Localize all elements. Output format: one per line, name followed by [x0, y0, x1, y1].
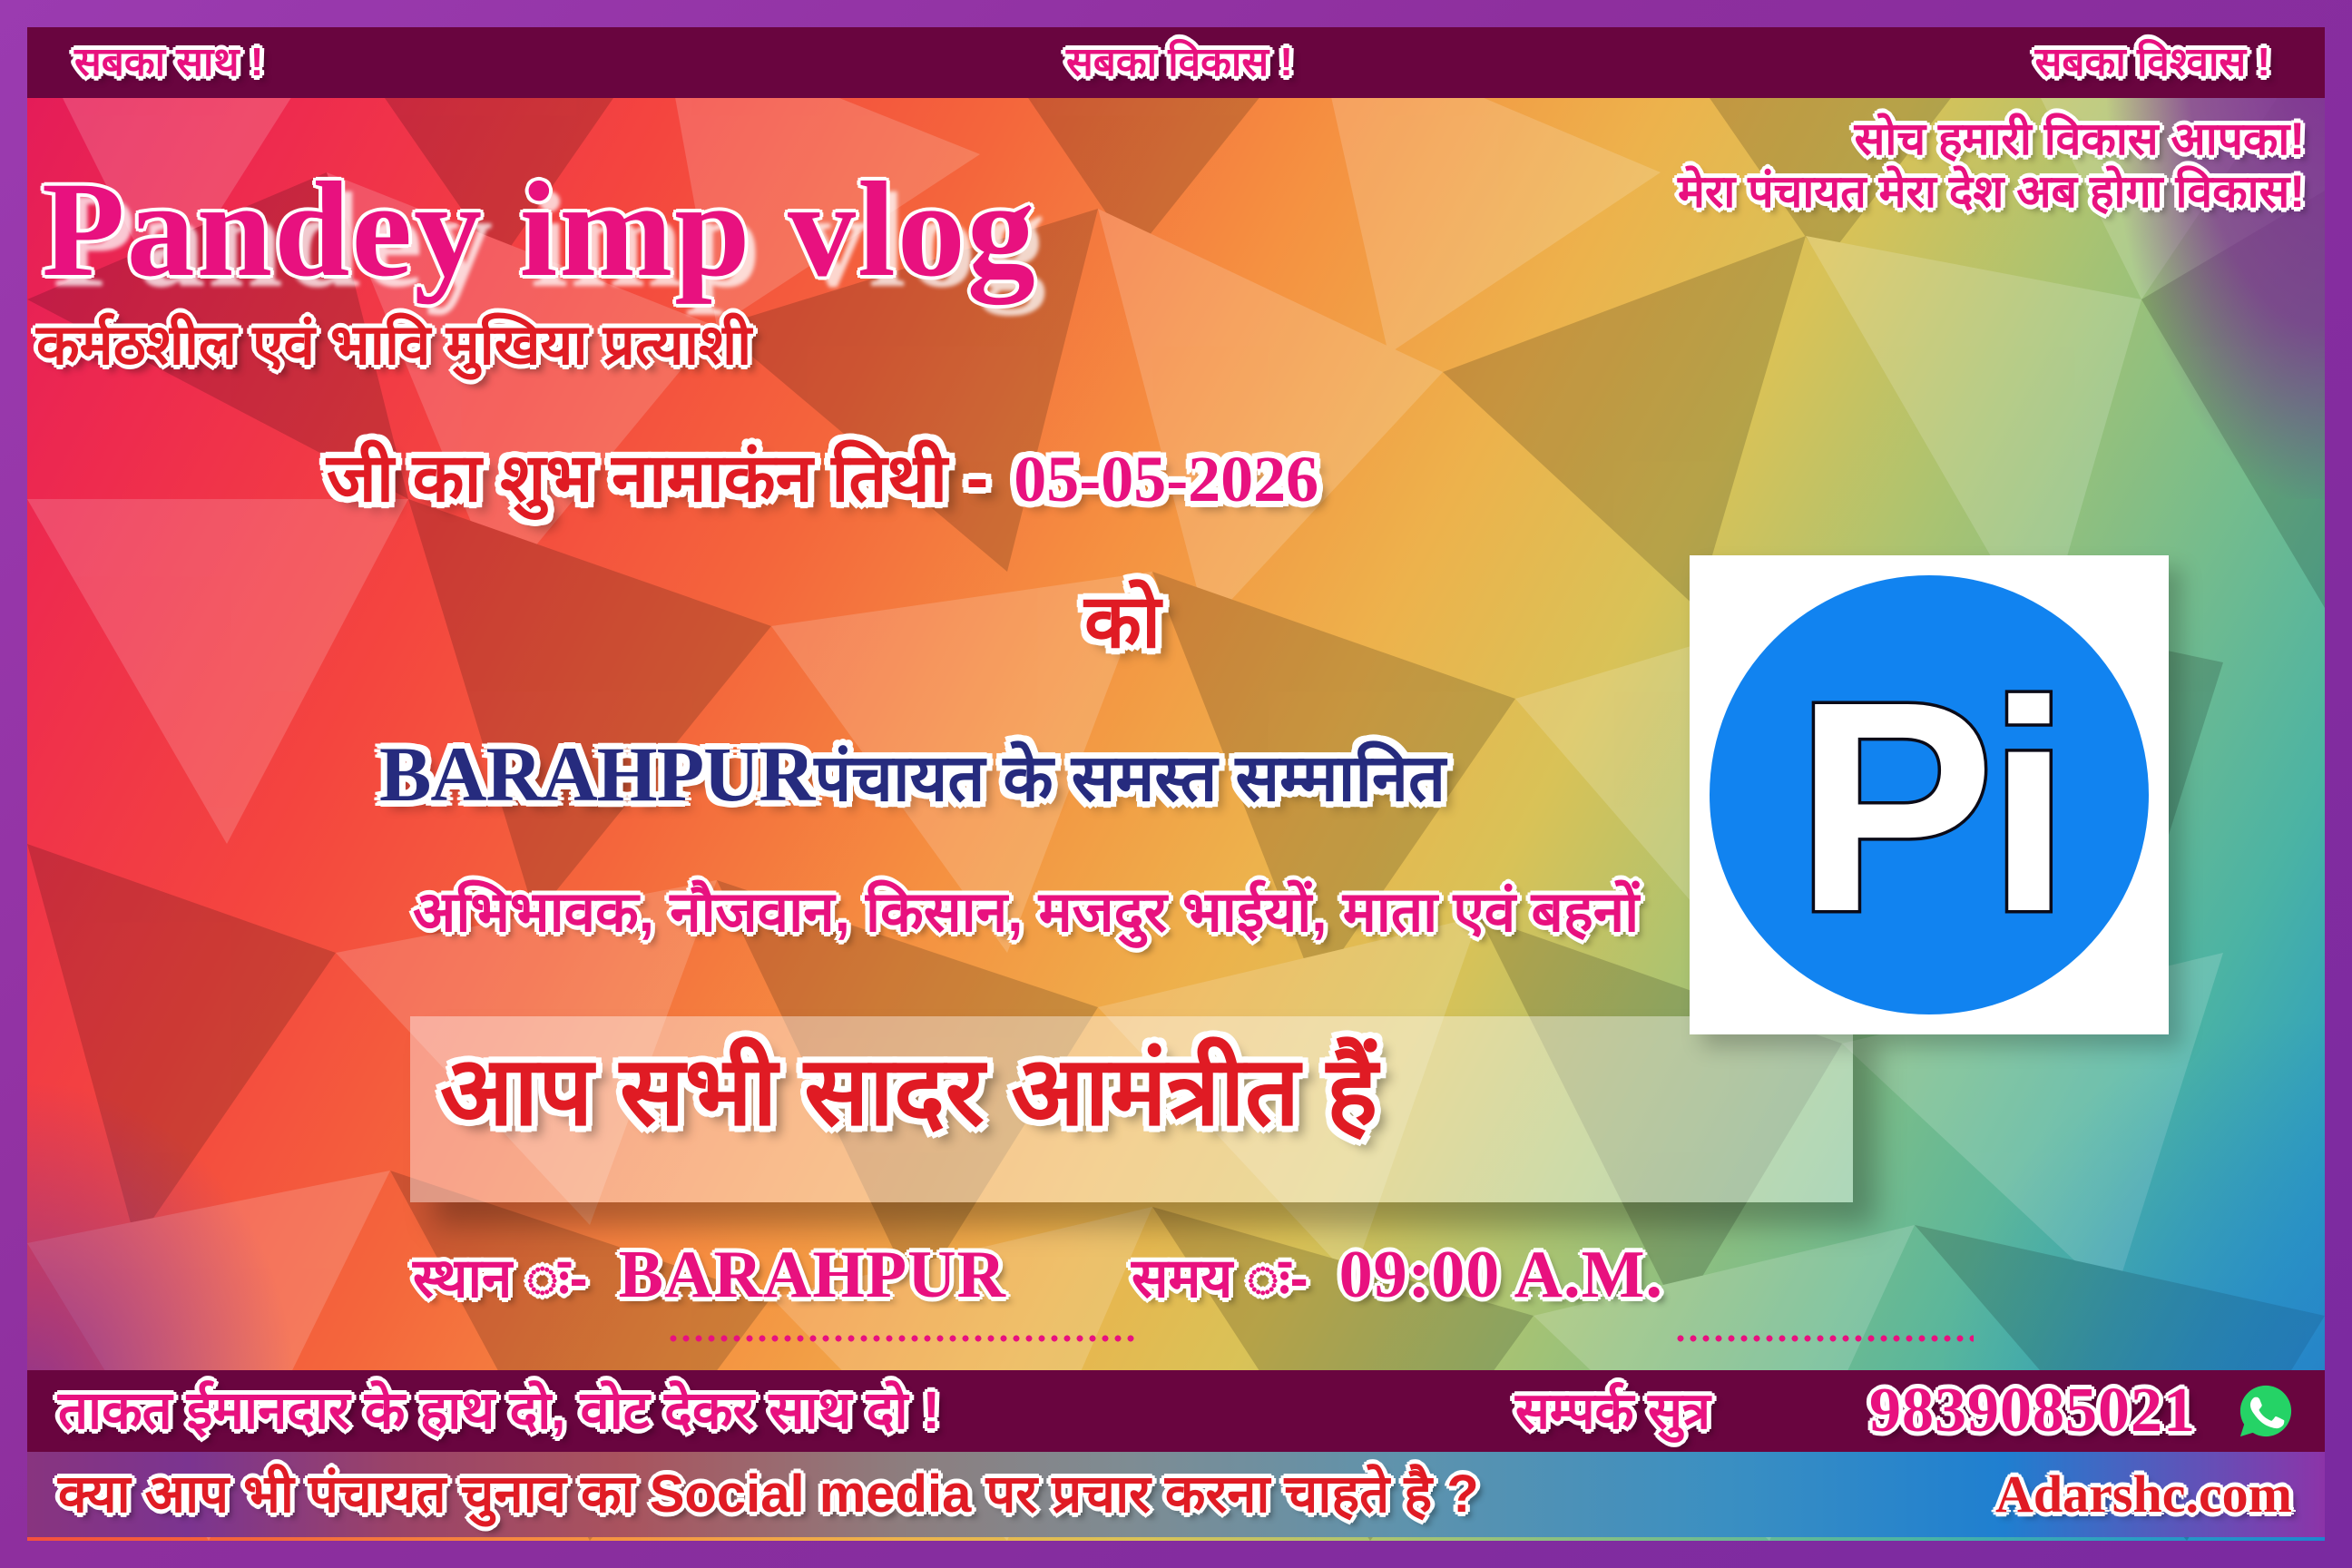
- audience-line: अभिभावक, नौजवान, किसान, मजदुर भाईयों, मा…: [413, 885, 1639, 941]
- contact-label: सम्पर्क सुत्र: [1515, 1386, 1710, 1436]
- slogan-sabka-vishwas: सबका विश्वास !: [2035, 43, 2270, 83]
- nomination-date-row: जी का शुभ नामाकंन तिथी - 05-05-2026: [327, 445, 1318, 512]
- nomination-date-label: जी का शुभ नामाकंन तिथी -: [327, 445, 988, 512]
- tagline-line-2: मेरा पंचायत मेरा देश अब होगा विकास!: [1678, 169, 2305, 214]
- contact-phone-number[interactable]: 9839085021: [1869, 1379, 2196, 1443]
- panchayat-suffix: पंचायत के समस्त सम्मानित: [814, 746, 1445, 811]
- panchayat-line: BARAHPUR पंचायत के समस्त सम्मानित: [379, 735, 1445, 813]
- time-dotted-rule: [1674, 1334, 1974, 1343]
- slogan-sabka-saath: सबका साथ !: [74, 43, 263, 83]
- venue-dotted-rule: [667, 1334, 1139, 1343]
- venue-label: स्थान ः-: [413, 1251, 588, 1306]
- promo-question-text: क्या आप भी पंचायत चुनाव का Social media …: [58, 1468, 1479, 1521]
- venue-time-row: स्थान ः- BARAHPUR समय ः- 09:00 A.M.: [413, 1241, 1663, 1308]
- candidate-role-line: कर्मठशील एवं भावि मुखिया प्रत्याशी: [36, 318, 751, 374]
- corner-tint-top-right: [2107, 27, 2325, 499]
- poster-canvas: सबका साथ ! सबका विकास ! सबका विश्वास ! स…: [0, 0, 2352, 1568]
- panchayat-name: BARAHPUR: [379, 735, 814, 813]
- slogan-sabka-vikas: सबका विकास !: [1066, 43, 1293, 83]
- time-label: समय ः-: [1132, 1251, 1308, 1306]
- footer-promo-bar: क्या आप भी पंचायत चुनाव का Social media …: [27, 1452, 2325, 1537]
- connector-word-ko: को: [1084, 585, 1161, 660]
- tagline-block: सोच हमारी विकास आपका! मेरा पंचायत मेरा द…: [1678, 116, 2305, 214]
- tagline-line-1: सोच हमारी विकास आपका!: [1678, 116, 2305, 162]
- time-value: 09:00 A.M.: [1339, 1241, 1663, 1308]
- whatsapp-icon[interactable]: [2238, 1383, 2294, 1444]
- nomination-date-value: 05-05-2026: [1014, 446, 1318, 512]
- page-title-brand: Pandey imp vlog: [42, 162, 1037, 298]
- corner-tint-bottom-right: [1944, 1024, 2325, 1405]
- footer-vote-slogan: ताकत ईमानदार के हाथ दो, वोट देकर साथ दो …: [58, 1385, 940, 1437]
- corner-tint-bottom-left: [27, 1078, 299, 1405]
- venue-value: BARAHPUR: [619, 1241, 1006, 1308]
- invitation-line: आप सभी सादर आमंत्रीत हैं: [440, 1044, 1377, 1140]
- promo-website-link[interactable]: Adarshc.com: [1995, 1468, 2292, 1521]
- footer-contact-bar: ताकत ईमानदार के हाथ दो, वोट देकर साथ दो …: [27, 1370, 2325, 1452]
- logo-monogram: Pi: [1690, 579, 2169, 1034]
- top-slogan-bar: सबका साथ ! सबका विकास ! सबका विश्वास !: [27, 27, 2325, 98]
- channel-logo[interactable]: Pi: [1690, 555, 2169, 1034]
